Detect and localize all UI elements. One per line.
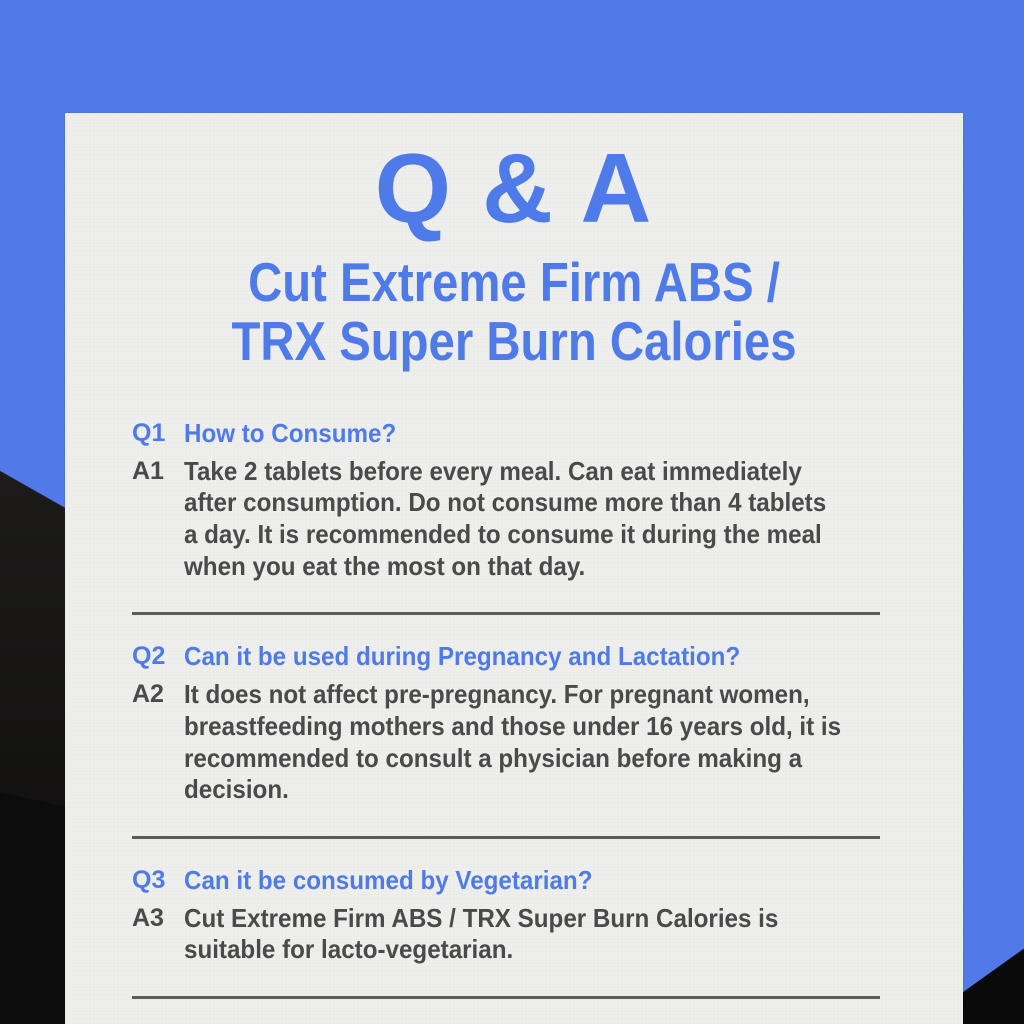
answer-tag-1: A1 xyxy=(132,456,184,488)
answer-row-1: A1 Take 2 tablets before every meal. Can… xyxy=(132,456,896,583)
answer-text-2: It does not affect pre-pregnancy. For pr… xyxy=(184,679,846,806)
answer-row-2: A2 It does not affect pre-pregnancy. For… xyxy=(132,679,896,806)
page-title: Q & A xyxy=(132,113,896,237)
qa-card: Q & A Cut Extreme Firm ABS / TRX Super B… xyxy=(65,113,963,1024)
question-row-3: Q3 Can it be consumed by Vegetarian? xyxy=(132,865,896,897)
product-subtitle: Cut Extreme Firm ABS / TRX Super Burn Ca… xyxy=(185,237,842,372)
qa-list: Q1 How to Consume? A1 Take 2 tablets bef… xyxy=(132,418,896,999)
answer-tag-2: A2 xyxy=(132,679,184,711)
qa-item-3: Q3 Can it be consumed by Vegetarian? A3 … xyxy=(132,865,896,999)
divider-3 xyxy=(132,996,880,999)
answer-text-1: Take 2 tablets before every meal. Can ea… xyxy=(184,456,846,583)
qa-item-2: Q2 Can it be used during Pregnancy and L… xyxy=(132,641,896,865)
question-text-1: How to Consume? xyxy=(184,418,846,450)
question-tag-1: Q1 xyxy=(132,418,184,450)
question-row-2: Q2 Can it be used during Pregnancy and L… xyxy=(132,641,896,673)
answer-text-3: Cut Extreme Firm ABS / TRX Super Burn Ca… xyxy=(184,903,846,966)
qa-item-1: Q1 How to Consume? A1 Take 2 tablets bef… xyxy=(132,418,896,642)
question-tag-3: Q3 xyxy=(132,865,184,897)
question-row-1: Q1 How to Consume? xyxy=(132,418,896,450)
question-text-3: Can it be consumed by Vegetarian? xyxy=(184,865,846,897)
poster: Q & A Cut Extreme Firm ABS / TRX Super B… xyxy=(0,0,1024,1024)
question-text-2: Can it be used during Pregnancy and Lact… xyxy=(184,641,846,673)
answer-row-3: A3 Cut Extreme Firm ABS / TRX Super Burn… xyxy=(132,903,896,966)
answer-tag-3: A3 xyxy=(132,903,184,935)
question-tag-2: Q2 xyxy=(132,641,184,673)
